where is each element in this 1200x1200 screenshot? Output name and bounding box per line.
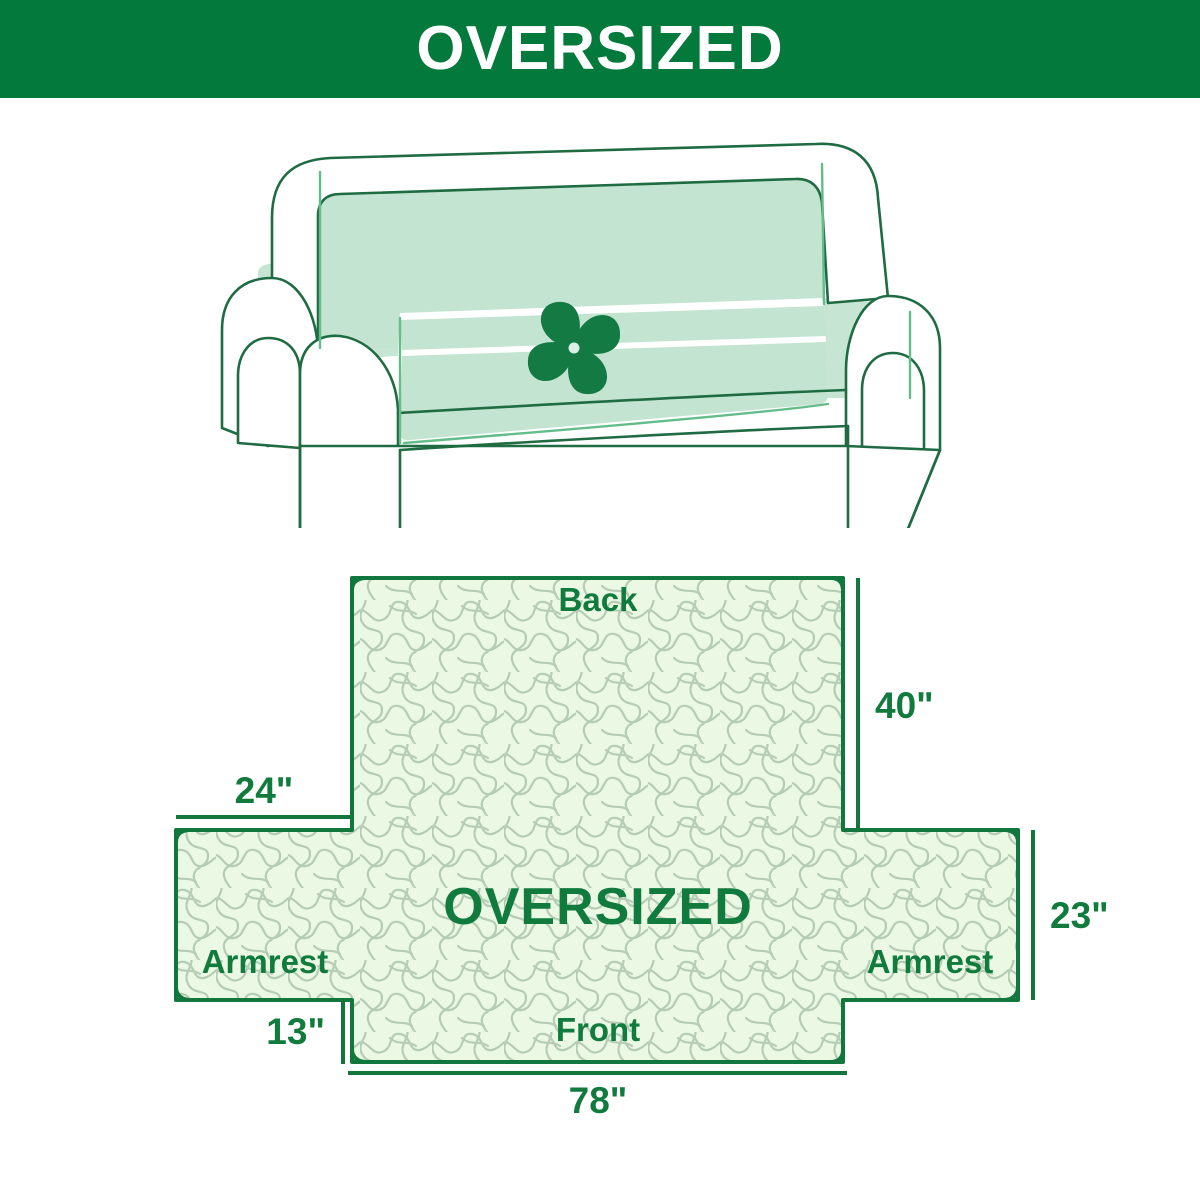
- dimension-value-total-width: 78": [569, 1080, 628, 1121]
- dimension-value-back-height: 40": [875, 685, 934, 726]
- dimension-value-armrest-depth: 23": [1050, 895, 1109, 936]
- sofa-illustration: [0, 98, 1200, 528]
- banner-title: OVERSIZED: [416, 18, 783, 80]
- flat-pattern-diagram: Back OVERSIZED Armrest Armrest Front 40"…: [0, 528, 1200, 1200]
- cover-shape: [176, 578, 1018, 1062]
- dimension-value-armrest-width: 24": [235, 770, 294, 811]
- label-back: Back: [559, 581, 639, 618]
- label-armrest-right: Armrest: [867, 943, 994, 980]
- header-banner: OVERSIZED: [0, 0, 1200, 98]
- label-center-oversized: OVERSIZED: [443, 878, 753, 936]
- label-armrest-left: Armrest: [202, 943, 329, 980]
- label-front: Front: [556, 1011, 640, 1048]
- dimension-value-front-drop: 13": [266, 1011, 325, 1052]
- pinwheel-fan-icon: [528, 302, 620, 394]
